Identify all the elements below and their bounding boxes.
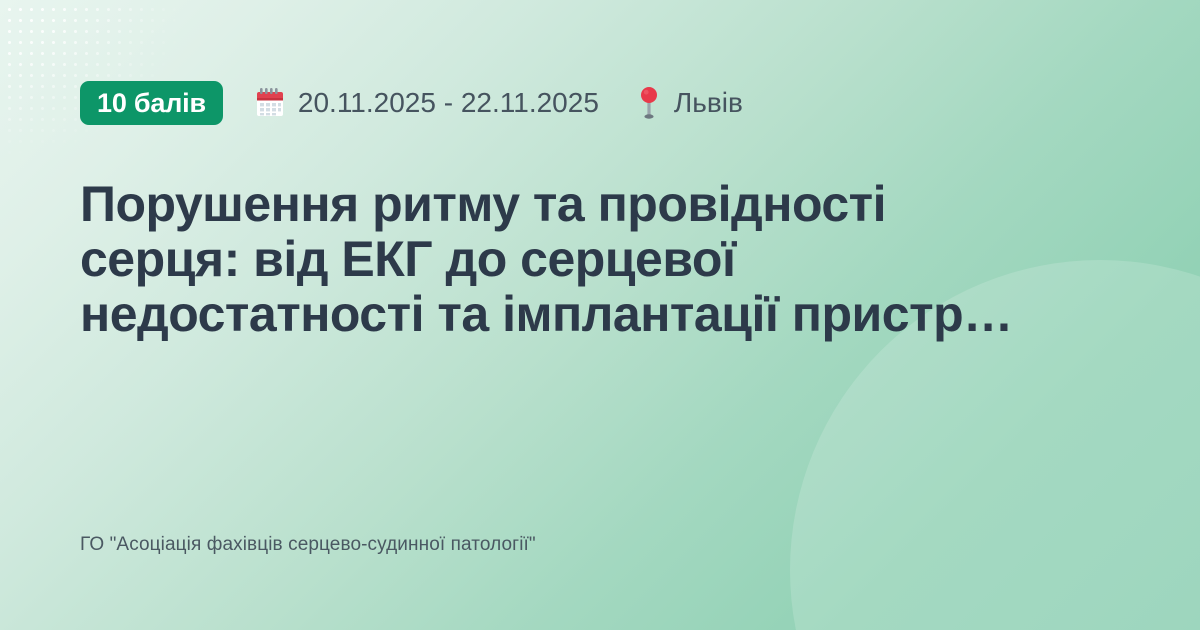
event-date-label: 20.11.2025 - 22.11.2025 <box>298 89 599 117</box>
organizer-name: ГО "Асоціація фахівців серцево-судинної … <box>80 535 536 554</box>
location-pin-icon <box>639 86 659 120</box>
event-date: 20.11.2025 - 22.11.2025 <box>255 87 599 119</box>
event-card: 10 балів <box>0 0 1200 630</box>
event-title: Порушення ритму та провідності серця: ві… <box>80 177 1160 342</box>
meta-row: 10 балів <box>80 78 1160 128</box>
event-location-label: Львів <box>674 89 743 117</box>
calendar-icon <box>255 87 285 119</box>
event-location: Львів <box>639 86 743 120</box>
points-badge: 10 балів <box>80 81 223 125</box>
